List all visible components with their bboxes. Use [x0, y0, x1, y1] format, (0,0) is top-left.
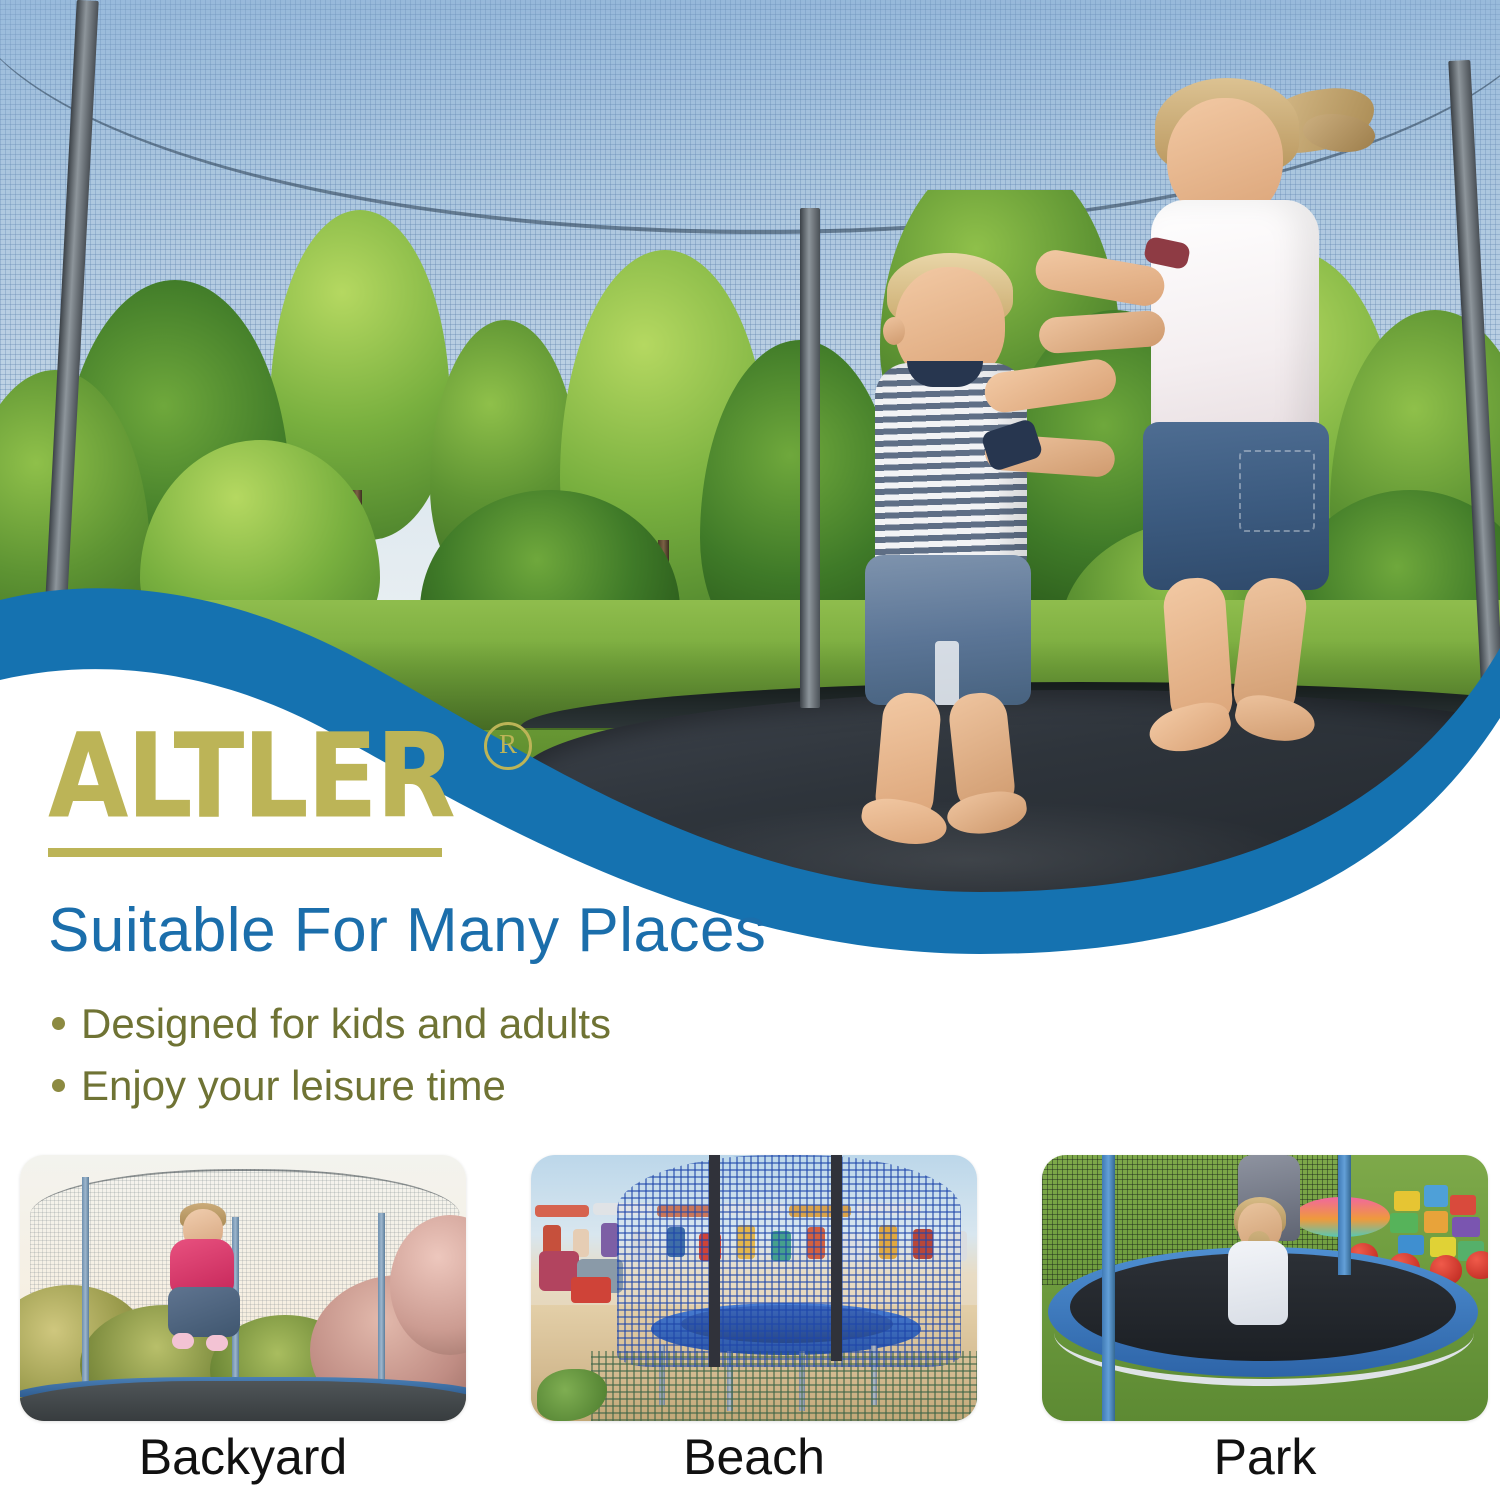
list-item: Designed for kids and adults	[52, 1000, 611, 1048]
girl-foot-left	[1145, 697, 1235, 760]
beach-chair	[571, 1277, 611, 1303]
play-block	[1452, 1217, 1480, 1237]
feature-bullet-list: Designed for kids and adults Enjoy your …	[52, 1000, 611, 1124]
child-shoe	[172, 1333, 194, 1349]
play-block	[1424, 1211, 1448, 1233]
child-shoe	[206, 1335, 228, 1351]
park-scene	[1042, 1155, 1488, 1421]
hero-child-girl	[1115, 70, 1365, 770]
girl-arm-lower	[1038, 310, 1166, 355]
list-item: Enjoy your leisure time	[52, 1062, 611, 1110]
use-case-thumbnail-row	[0, 1155, 1500, 1425]
enclosure-pole	[800, 208, 820, 708]
brand-underline	[48, 848, 442, 857]
page-title: Suitable For Many Places	[48, 895, 766, 966]
enclosure-post	[831, 1155, 842, 1361]
thumbnail-beach	[531, 1155, 977, 1421]
child-white-shirt	[1228, 1241, 1288, 1325]
enclosure-post	[709, 1155, 720, 1367]
girl-shorts-pocket	[1239, 450, 1315, 532]
registered-trademark-icon: R	[484, 722, 532, 770]
boy-denim-shorts	[865, 555, 1031, 705]
brand-name: ALTLER	[48, 718, 454, 834]
trampoline-mat	[20, 1381, 466, 1421]
brand-logo: ALTLER R	[48, 718, 454, 822]
safety-net-enclosure	[617, 1155, 961, 1367]
backyard-scene	[20, 1155, 466, 1421]
bullet-label: Enjoy your leisure time	[81, 1062, 506, 1110]
girl-foot-right	[1232, 690, 1319, 748]
girl-white-shirt	[1151, 200, 1319, 450]
play-ball	[1466, 1251, 1488, 1279]
hero-child-boy	[835, 245, 1055, 835]
enclosure-pole	[82, 1177, 89, 1407]
child-pants	[168, 1287, 240, 1337]
bullet-dot-icon	[52, 1079, 65, 1092]
play-block	[1450, 1195, 1476, 1215]
umbrella	[535, 1205, 589, 1217]
caption-beach: Beach	[531, 1428, 977, 1486]
play-block	[1430, 1237, 1456, 1257]
enclosure-pole	[1102, 1155, 1115, 1421]
beach-scene	[531, 1155, 977, 1421]
bullet-dot-icon	[52, 1017, 65, 1030]
caption-backyard: Backyard	[20, 1428, 466, 1486]
thumbnail-caption-row: Backyard Beach Park	[0, 1428, 1500, 1494]
play-block	[1398, 1235, 1424, 1255]
thumbnail-backyard	[20, 1155, 466, 1421]
bullet-label: Designed for kids and adults	[81, 1000, 611, 1048]
boy-ear	[883, 317, 905, 345]
play-block	[1424, 1185, 1448, 1207]
caption-park: Park	[1042, 1428, 1488, 1486]
girl-denim-shorts	[1143, 422, 1329, 590]
enclosure-pole	[1338, 1155, 1351, 1275]
product-infographic: ALTLER R Suitable For Many Places Design…	[0, 0, 1500, 1500]
play-block	[1394, 1191, 1420, 1211]
thumbnail-park	[1042, 1155, 1488, 1421]
play-block	[1390, 1213, 1418, 1233]
